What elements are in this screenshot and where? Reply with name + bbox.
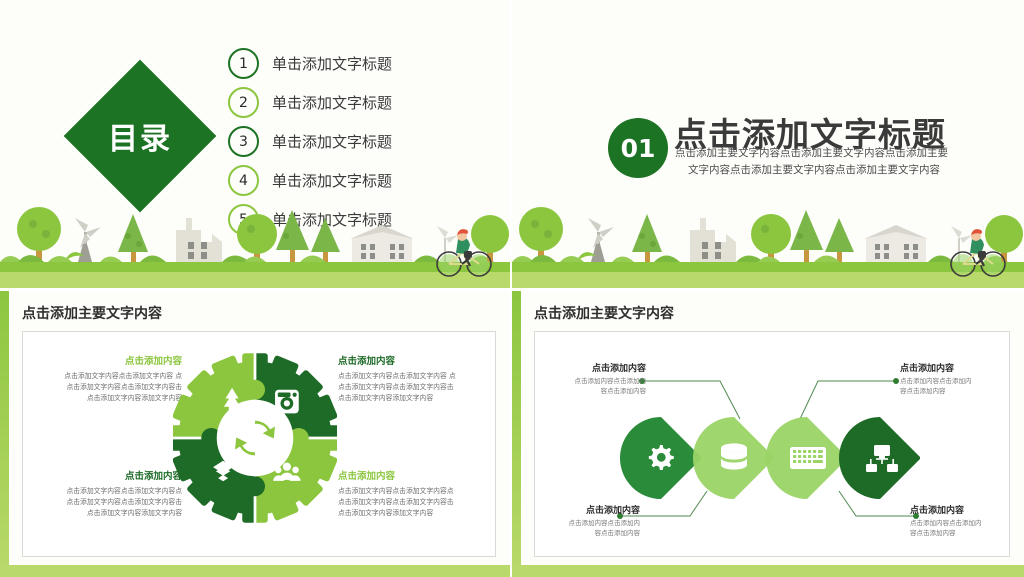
gear-block-bl-heading: 点击添加内容 bbox=[36, 468, 182, 482]
leaf-callout-bl-line1: 点击添加内容点击添加内 bbox=[520, 518, 640, 528]
gear-block-bottom-left[interactable]: 点击添加内容 点击添加文字内容点击添加文字内容点 点击添加文字内容点击添加文字内… bbox=[36, 468, 182, 519]
leaf-callout-bl-line2: 容点击添加内容 bbox=[520, 528, 640, 538]
leaf-callout-br-heading: 点击添加内容 bbox=[910, 503, 1024, 516]
gear-block-top-left[interactable]: 点击添加内容 点击添加文字内容点击添加文字内容 点 点击添加文字内容点击添加文字… bbox=[36, 353, 182, 404]
leaf-node-1 bbox=[620, 417, 702, 499]
section-divider-slide[interactable]: 01 点击添加文字标题 点击添加主要文字内容点击添加主要文字内容点击添加主要 文… bbox=[512, 0, 1024, 288]
eco-landscape-illustration bbox=[512, 196, 1024, 288]
toc-number-4: 4 bbox=[228, 165, 259, 196]
leaf-callout-br-line2: 容点击添加内容 bbox=[910, 528, 1024, 538]
leaf-callout-bottom-right[interactable]: 点击添加内容 点击添加内容点击添加内 容点击添加内容 bbox=[910, 503, 1024, 538]
toc-item-2[interactable]: 2 单击添加文字标题 bbox=[228, 83, 498, 122]
leaf-callout-tr-line2: 容点击添加内容 bbox=[900, 386, 1020, 396]
gear-block-tl-line3: 点击添加文字内容添加文字内容 bbox=[36, 393, 182, 404]
toc-number-3: 3 bbox=[228, 126, 259, 157]
leaf-callout-tr-line1: 点击添加内容点击添加内 bbox=[900, 376, 1020, 386]
callout-dot-top-right bbox=[893, 378, 899, 384]
keyboard-icon bbox=[790, 447, 826, 469]
toc-number-1: 1 bbox=[228, 48, 259, 79]
toc-diamond-label: 目录 bbox=[86, 82, 194, 190]
leaf-node-2 bbox=[693, 417, 775, 499]
section-subtitle-line1: 点击添加主要文字内容点击添加主要文字内容点击添加主要 bbox=[675, 145, 948, 160]
leaf-node-3 bbox=[766, 417, 848, 499]
leaf-process-chain bbox=[620, 417, 920, 499]
gear-block-bl-line3: 点击添加文字内容添加文字内容 bbox=[36, 508, 182, 519]
leaf-callout-bl-heading: 点击添加内容 bbox=[520, 503, 640, 516]
leaf-callout-top-left[interactable]: 点击添加内容 点击添加内容点击添加内 容点击添加内容 bbox=[526, 361, 646, 396]
gear-block-tr-line1: 点击添加文字内容点击添加文字内容 点 bbox=[338, 371, 488, 382]
leaf-callout-tl-line1: 点击添加内容点击添加内 bbox=[526, 376, 646, 386]
gear-diagram bbox=[173, 347, 337, 529]
left-accent-stripe bbox=[0, 291, 9, 577]
leaf-node-4 bbox=[839, 417, 920, 499]
gear-diagram-slide[interactable]: 点击添加主要文字内容 点击添加内容 点击添加文字内容点击添加文字内容 点 点击添… bbox=[0, 291, 510, 577]
gear-block-tr-heading: 点击添加内容 bbox=[338, 353, 488, 367]
leaf-callout-tl-heading: 点击添加内容 bbox=[526, 361, 646, 374]
leaf-callout-tl-line2: 容点击添加内容 bbox=[526, 386, 646, 396]
gear-block-br-line3: 点击添加文字内容添加文字内容 bbox=[338, 508, 488, 519]
gear-block-bl-line1: 点击添加文字内容点击添加文字内容点 bbox=[36, 486, 182, 497]
gear-block-br-line1: 点击添加文字内容点击添加文字内容点 bbox=[338, 486, 488, 497]
toc-number-2: 2 bbox=[228, 87, 259, 118]
gear-block-tl-line2: 点击添加文字内容点击添加文字内容击 bbox=[36, 382, 182, 393]
toc-item-1[interactable]: 1 单击添加文字标题 bbox=[228, 44, 498, 83]
gear-block-bottom-right[interactable]: 点击添加内容 点击添加文字内容点击添加文字内容点 点击添加文字内容点击添加文字内… bbox=[338, 468, 488, 519]
gear-block-br-heading: 点击添加内容 bbox=[338, 468, 488, 482]
bottom-accent-stripe bbox=[0, 565, 510, 577]
landscape-svg bbox=[0, 196, 510, 288]
section-subtitle-line2: 文字内容点击添加主要文字内容点击添加主要文字内容 bbox=[688, 162, 940, 177]
gear-block-br-line2: 点击添加文字内容点击添加文字内容击 bbox=[338, 497, 488, 508]
toc-item-3[interactable]: 3 单击添加文字标题 bbox=[228, 122, 498, 161]
toc-label-2: 单击添加文字标题 bbox=[272, 92, 392, 113]
toc-label-4: 单击添加文字标题 bbox=[272, 170, 392, 191]
leaf-callout-top-right[interactable]: 点击添加内容 点击添加内容点击添加内 容点击添加内容 bbox=[900, 361, 1020, 396]
eco-landscape-illustration bbox=[0, 196, 510, 288]
gear-block-tl-heading: 点击添加内容 bbox=[36, 353, 182, 367]
toc-label-3: 单击添加文字标题 bbox=[272, 131, 392, 152]
leaf-process-slide[interactable]: 点击添加主要文字内容 点击添加内容 点击添加内容点击添加内 容点击添加内容 点击… bbox=[512, 291, 1024, 577]
instagram-camera-icon bbox=[275, 390, 299, 414]
gear-svg bbox=[173, 347, 337, 529]
section-number-badge: 01 bbox=[608, 118, 668, 178]
leaf-callout-bottom-left[interactable]: 点击添加内容 点击添加内容点击添加内 容点击添加内容 bbox=[520, 503, 640, 538]
toc-item-4[interactable]: 4 单击添加文字标题 bbox=[228, 161, 498, 200]
landscape-svg bbox=[512, 196, 1024, 288]
table-of-contents-slide[interactable]: 目录 1 单击添加文字标题 2 单击添加文字标题 3 单击添加文字标题 4 单击… bbox=[0, 0, 510, 288]
gear-block-tr-line2: 点击添加文字内容点击添加文字内容击 bbox=[338, 382, 488, 393]
toc-label-1: 单击添加文字标题 bbox=[272, 53, 392, 74]
leaf-callout-tr-heading: 点击添加内容 bbox=[900, 361, 1020, 374]
gear-block-top-right[interactable]: 点击添加内容 点击添加文字内容点击添加文字内容 点 点击添加文字内容点击添加文字… bbox=[338, 353, 488, 404]
gear-block-bl-line2: 点击添加文字内容点击添加文字内容击 bbox=[36, 497, 182, 508]
leaf-callout-br-line1: 点击添加内容点击添加内 bbox=[910, 518, 1024, 528]
gear-block-tl-line1: 点击添加文字内容点击添加文字内容 点 bbox=[36, 371, 182, 382]
gear-block-tr-line3: 点击添加文字内容添加文字内容 bbox=[338, 393, 488, 404]
gear-slide-title: 点击添加主要文字内容 bbox=[22, 303, 162, 323]
slide-grid: 目录 1 单击添加文字标题 2 单击添加文字标题 3 单击添加文字标题 4 单击… bbox=[0, 0, 1024, 577]
